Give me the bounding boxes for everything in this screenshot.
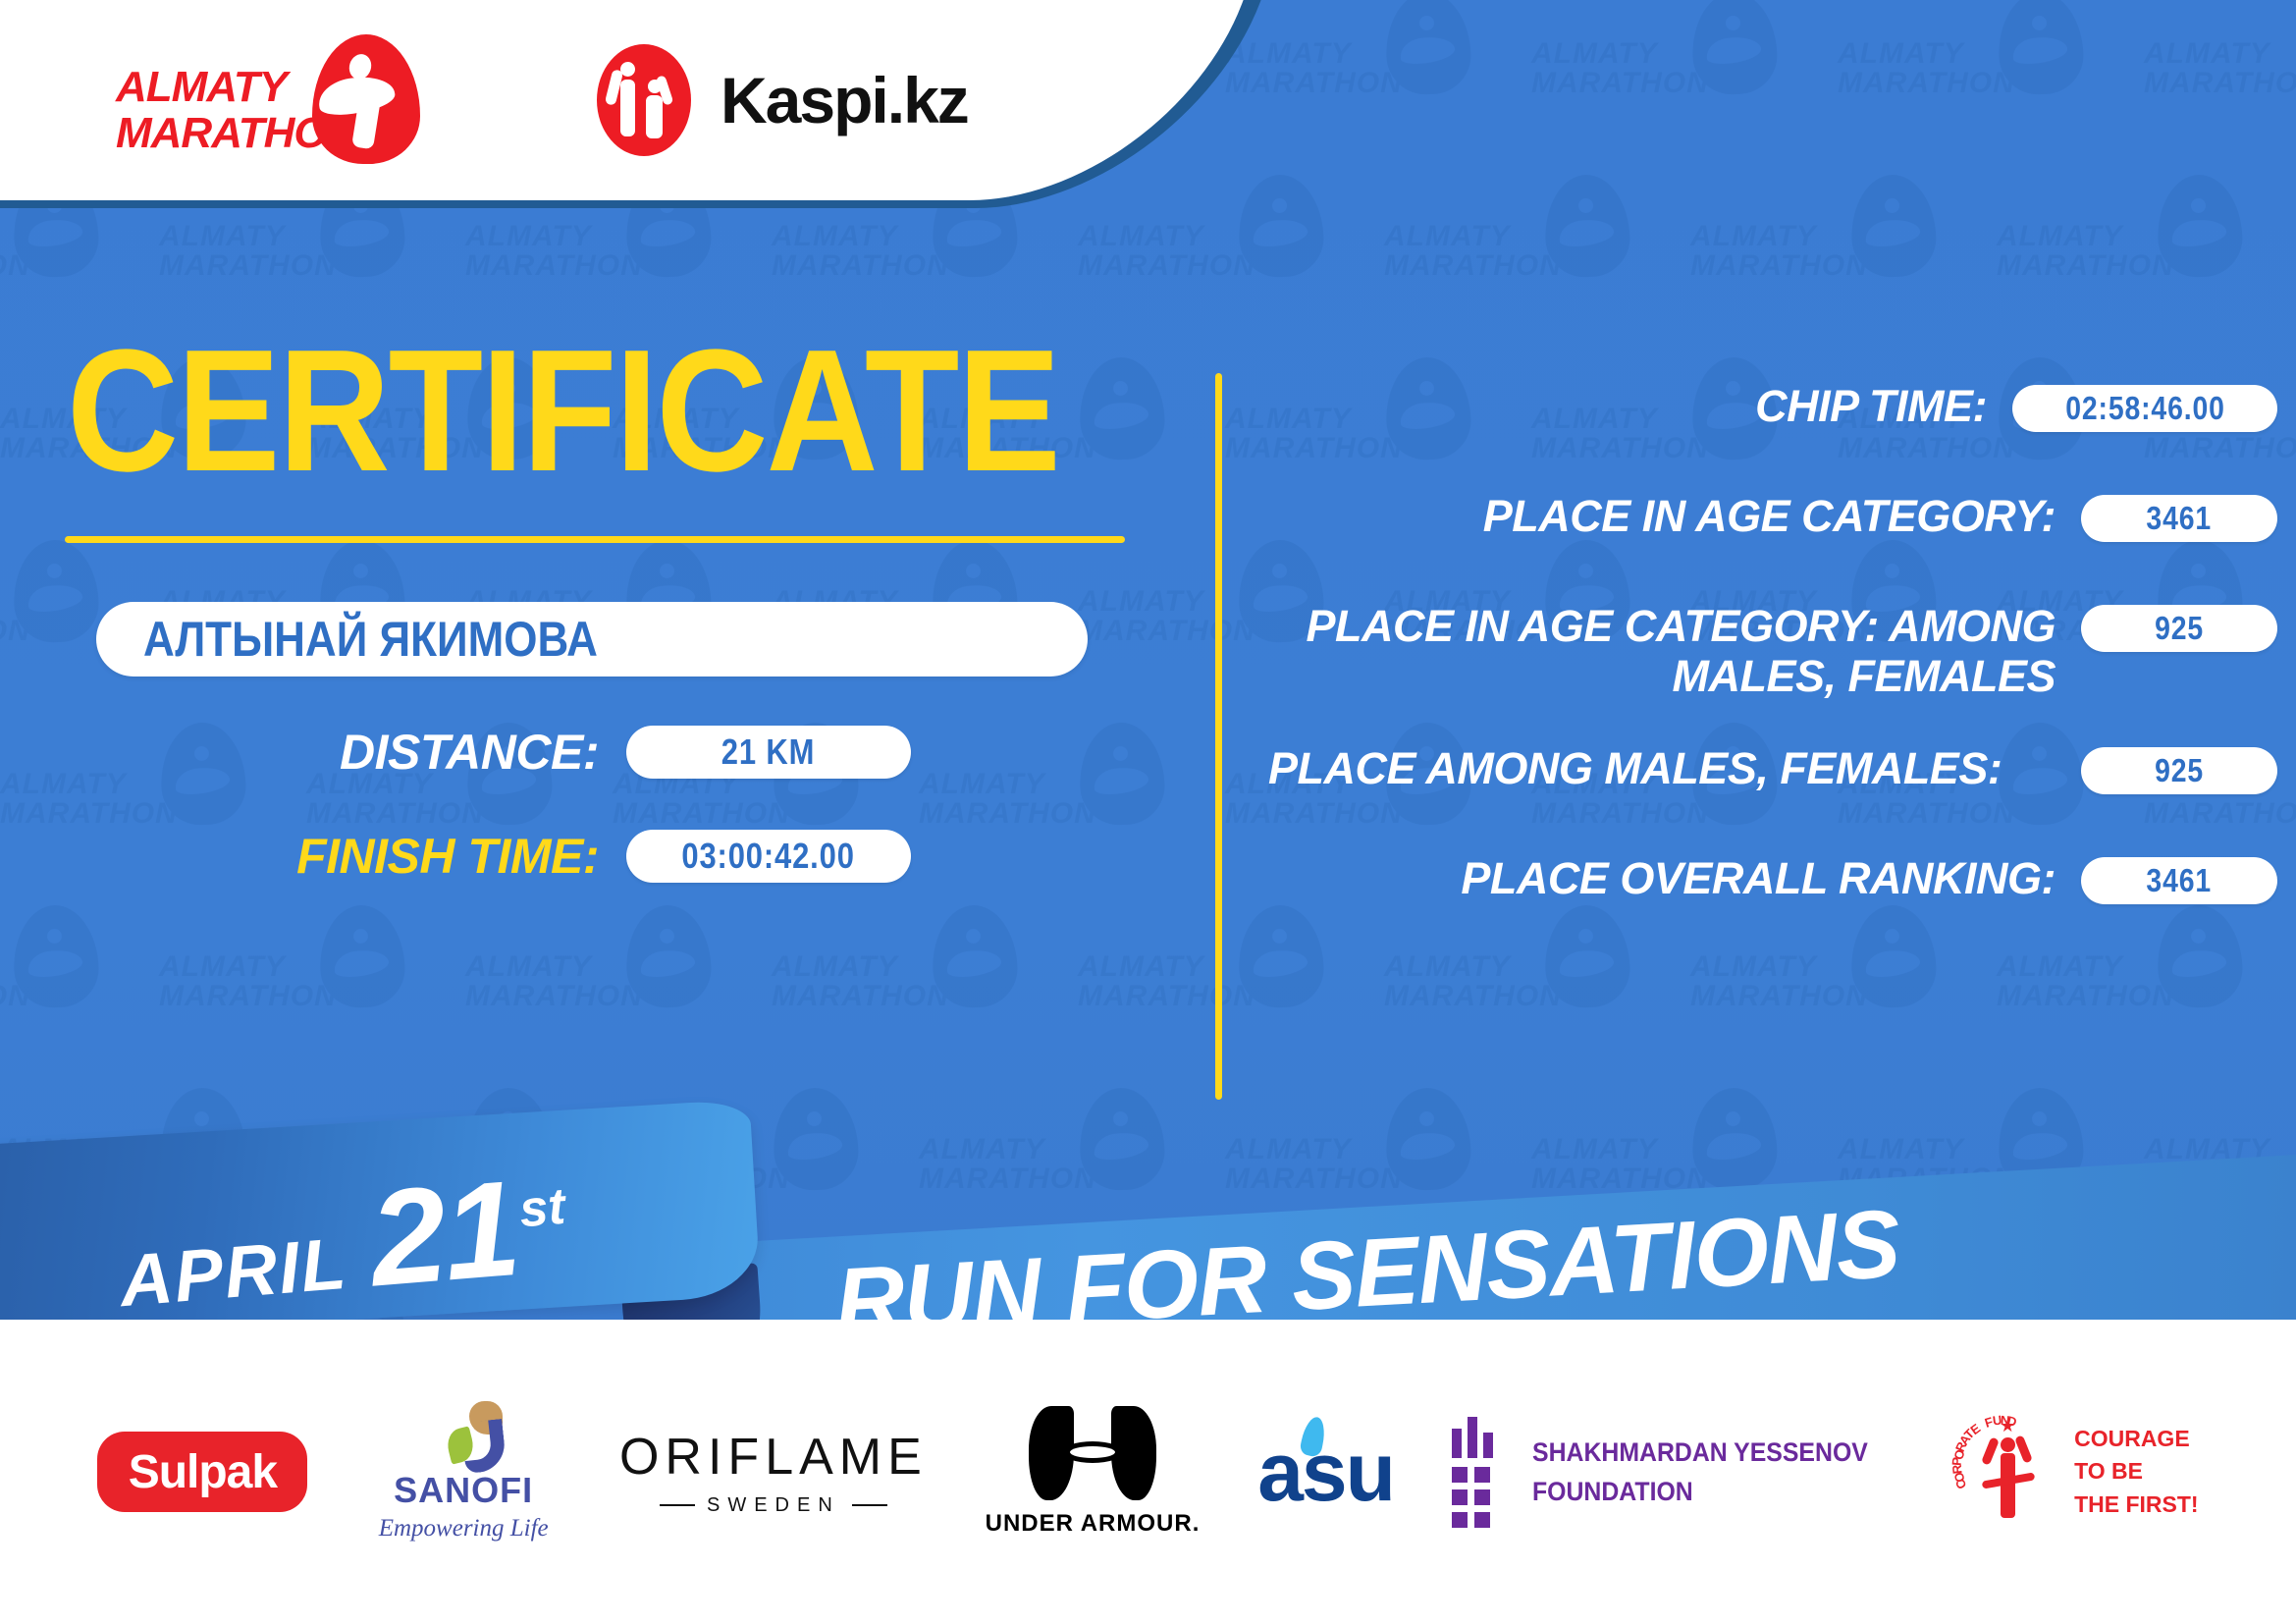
sponsor-yessenov-foundation[interactable]: SHAKHMARDAN YESSENOV FOUNDATION [1452, 1417, 1897, 1528]
stat-row-finish-time: FINISH TIME: 03:00:42.00 [0, 828, 1178, 885]
place-age-gender-value-pill: 925 [2081, 605, 2277, 652]
sulpak-logo: Sulpak [97, 1432, 307, 1512]
certificate-left-panel: CERTIFICATE АЛТЫНАЙ ЯКИМОВА DISTANCE: 21… [0, 324, 1178, 885]
sponsor-bar: Sulpak SANOFI Empowering Life ORIFLAME S… [0, 1320, 2296, 1624]
watermark-tile: ALMATYMARATHON [1838, 0, 2083, 118]
place-age-gender-value: 925 [2155, 610, 2204, 647]
result-row-place-gender: PLACE AMONG MALES, FEMALES: 925 [1247, 743, 2277, 812]
header: ALMATY MARATHON Kaspi.kz [0, 0, 1374, 295]
result-row-place-overall: PLACE OVERALL RANKING: 3461 [1247, 853, 2277, 922]
finish-time-value: 03:00:42.00 [682, 836, 855, 877]
place-overall-label: PLACE OVERALL RANKING: [1247, 853, 2081, 903]
results-panel: CHIP TIME: 02:58:46.00 PLACE IN AGE CATE… [1247, 381, 2277, 963]
place-age-gender-label: PLACE IN AGE CATEGORY: AMONG MALES, FEMA… [1247, 601, 2081, 702]
yessenov-line2: FOUNDATION [1532, 1472, 1868, 1512]
yessenov-line1: SHAKHMARDAN YESSENOV [1532, 1433, 1868, 1473]
sponsor-oriflame[interactable]: ORIFLAME SWEDEN [619, 1428, 928, 1517]
chip-time-value: 02:58:46.00 [2065, 390, 2225, 427]
watermark-tile: ALMATYMARATHON [1384, 183, 1629, 300]
result-row-place-age: PLACE IN AGE CATEGORY: 3461 [1247, 491, 2277, 560]
chip-time-value-pill: 02:58:46.00 [2012, 385, 2277, 432]
result-row-chip-time: CHIP TIME: 02:58:46.00 [1247, 381, 2277, 450]
place-overall-value-pill: 3461 [2081, 857, 2277, 904]
place-gender-label: PLACE AMONG MALES, FEMALES: [1247, 743, 2081, 793]
watermark-tile: ALMATYMARATHON [772, 913, 1017, 1031]
place-age-label: PLACE IN AGE CATEGORY: [1247, 491, 2081, 541]
place-age-value-pill: 3461 [2081, 495, 2277, 542]
sponsor-asu[interactable]: asu [1257, 1425, 1394, 1520]
under-armour-icon [1029, 1406, 1156, 1500]
runner-drop-icon [312, 34, 420, 164]
watermark-tile: ALMATYMARATHON [465, 913, 711, 1031]
sanofi-tagline: Empowering Life [379, 1515, 549, 1543]
watermark-tile: ALMATYMARATHON [2144, 0, 2296, 118]
sponsor-sulpak[interactable]: Sulpak [97, 1432, 307, 1512]
certificate-canvas: ALMATYMARATHONALMATYMARATHONALMATYMARATH… [0, 0, 2296, 1624]
result-row-place-age-gender: PLACE IN AGE CATEGORY: AMONG MALES, FEMA… [1247, 601, 2277, 702]
event-day-suffix: st [517, 1177, 567, 1240]
distance-value-pill: 21 KM [626, 726, 911, 779]
sponsor-courage-fund[interactable]: CORPORATE FUND ★ COURAGE TO BE THE FIRST… [1954, 1414, 2199, 1530]
oriflame-tagline-row: SWEDEN [619, 1494, 928, 1517]
place-gender-value-pill: 925 [2081, 747, 2277, 794]
sponsor-under-armour[interactable]: UNDER ARMOUR. [986, 1406, 1201, 1538]
watermark-tile: ALMATYMARATHON [1531, 0, 1777, 118]
yessenov-icon [1452, 1417, 1511, 1528]
athlete-name-field[interactable]: АЛТЫНАЙ ЯКИМОВА [96, 602, 1088, 677]
place-overall-value: 3461 [2147, 862, 2213, 899]
sponsor-sanofi[interactable]: SANOFI Empowering Life [365, 1401, 561, 1543]
watermark-tile: ALMATYMARATHON [159, 913, 404, 1031]
place-gender-value: 925 [2155, 752, 2204, 789]
courage-fund-line2: TO BE [2074, 1455, 2199, 1488]
stat-row-distance: DISTANCE: 21 KM [0, 724, 1178, 781]
almaty-marathon-logo[interactable]: ALMATY MARATHON [116, 27, 440, 174]
courage-fund-icon: CORPORATE FUND ★ [1954, 1414, 2060, 1530]
watermark-tile: ALMATYMARATHON [1690, 183, 1936, 300]
distance-label: DISTANCE: [0, 724, 599, 781]
oriflame-wordmark: ORIFLAME [619, 1428, 928, 1487]
kaspi-wordmark: Kaspi.kz [721, 63, 968, 137]
sanofi-icon [379, 1401, 549, 1470]
distance-value: 21 KM [721, 731, 815, 773]
athlete-name: АЛТЫНАЙ ЯКИМОВА [143, 611, 598, 668]
asu-wordmark: asu [1257, 1425, 1394, 1520]
watermark-tile: ALMATYMARATHON [1997, 183, 2242, 300]
watermark-tile: ALMATYMARATHON [0, 913, 98, 1031]
sulpak-wordmark: Sulpak [129, 1445, 277, 1499]
courage-fund-line3: THE FIRST! [2074, 1489, 2199, 1521]
sanofi-wordmark: SANOFI [379, 1470, 549, 1511]
kaspi-logo[interactable]: Kaspi.kz [597, 44, 968, 156]
kaspi-people-icon [597, 44, 691, 156]
chip-time-label: CHIP TIME: [1247, 381, 2012, 431]
event-day: 21 [366, 1167, 522, 1301]
title-divider [65, 536, 1125, 543]
column-divider [1215, 373, 1222, 1100]
oriflame-tagline: SWEDEN [707, 1494, 840, 1517]
page-title: CERTIFICATE [67, 324, 1178, 498]
under-armour-wordmark: UNDER ARMOUR. [986, 1510, 1201, 1538]
finish-time-value-pill: 03:00:42.00 [626, 830, 911, 883]
place-age-value: 3461 [2147, 500, 2213, 537]
courage-fund-line1: COURAGE [2074, 1423, 2199, 1455]
finish-time-label: FINISH TIME: [0, 828, 599, 885]
